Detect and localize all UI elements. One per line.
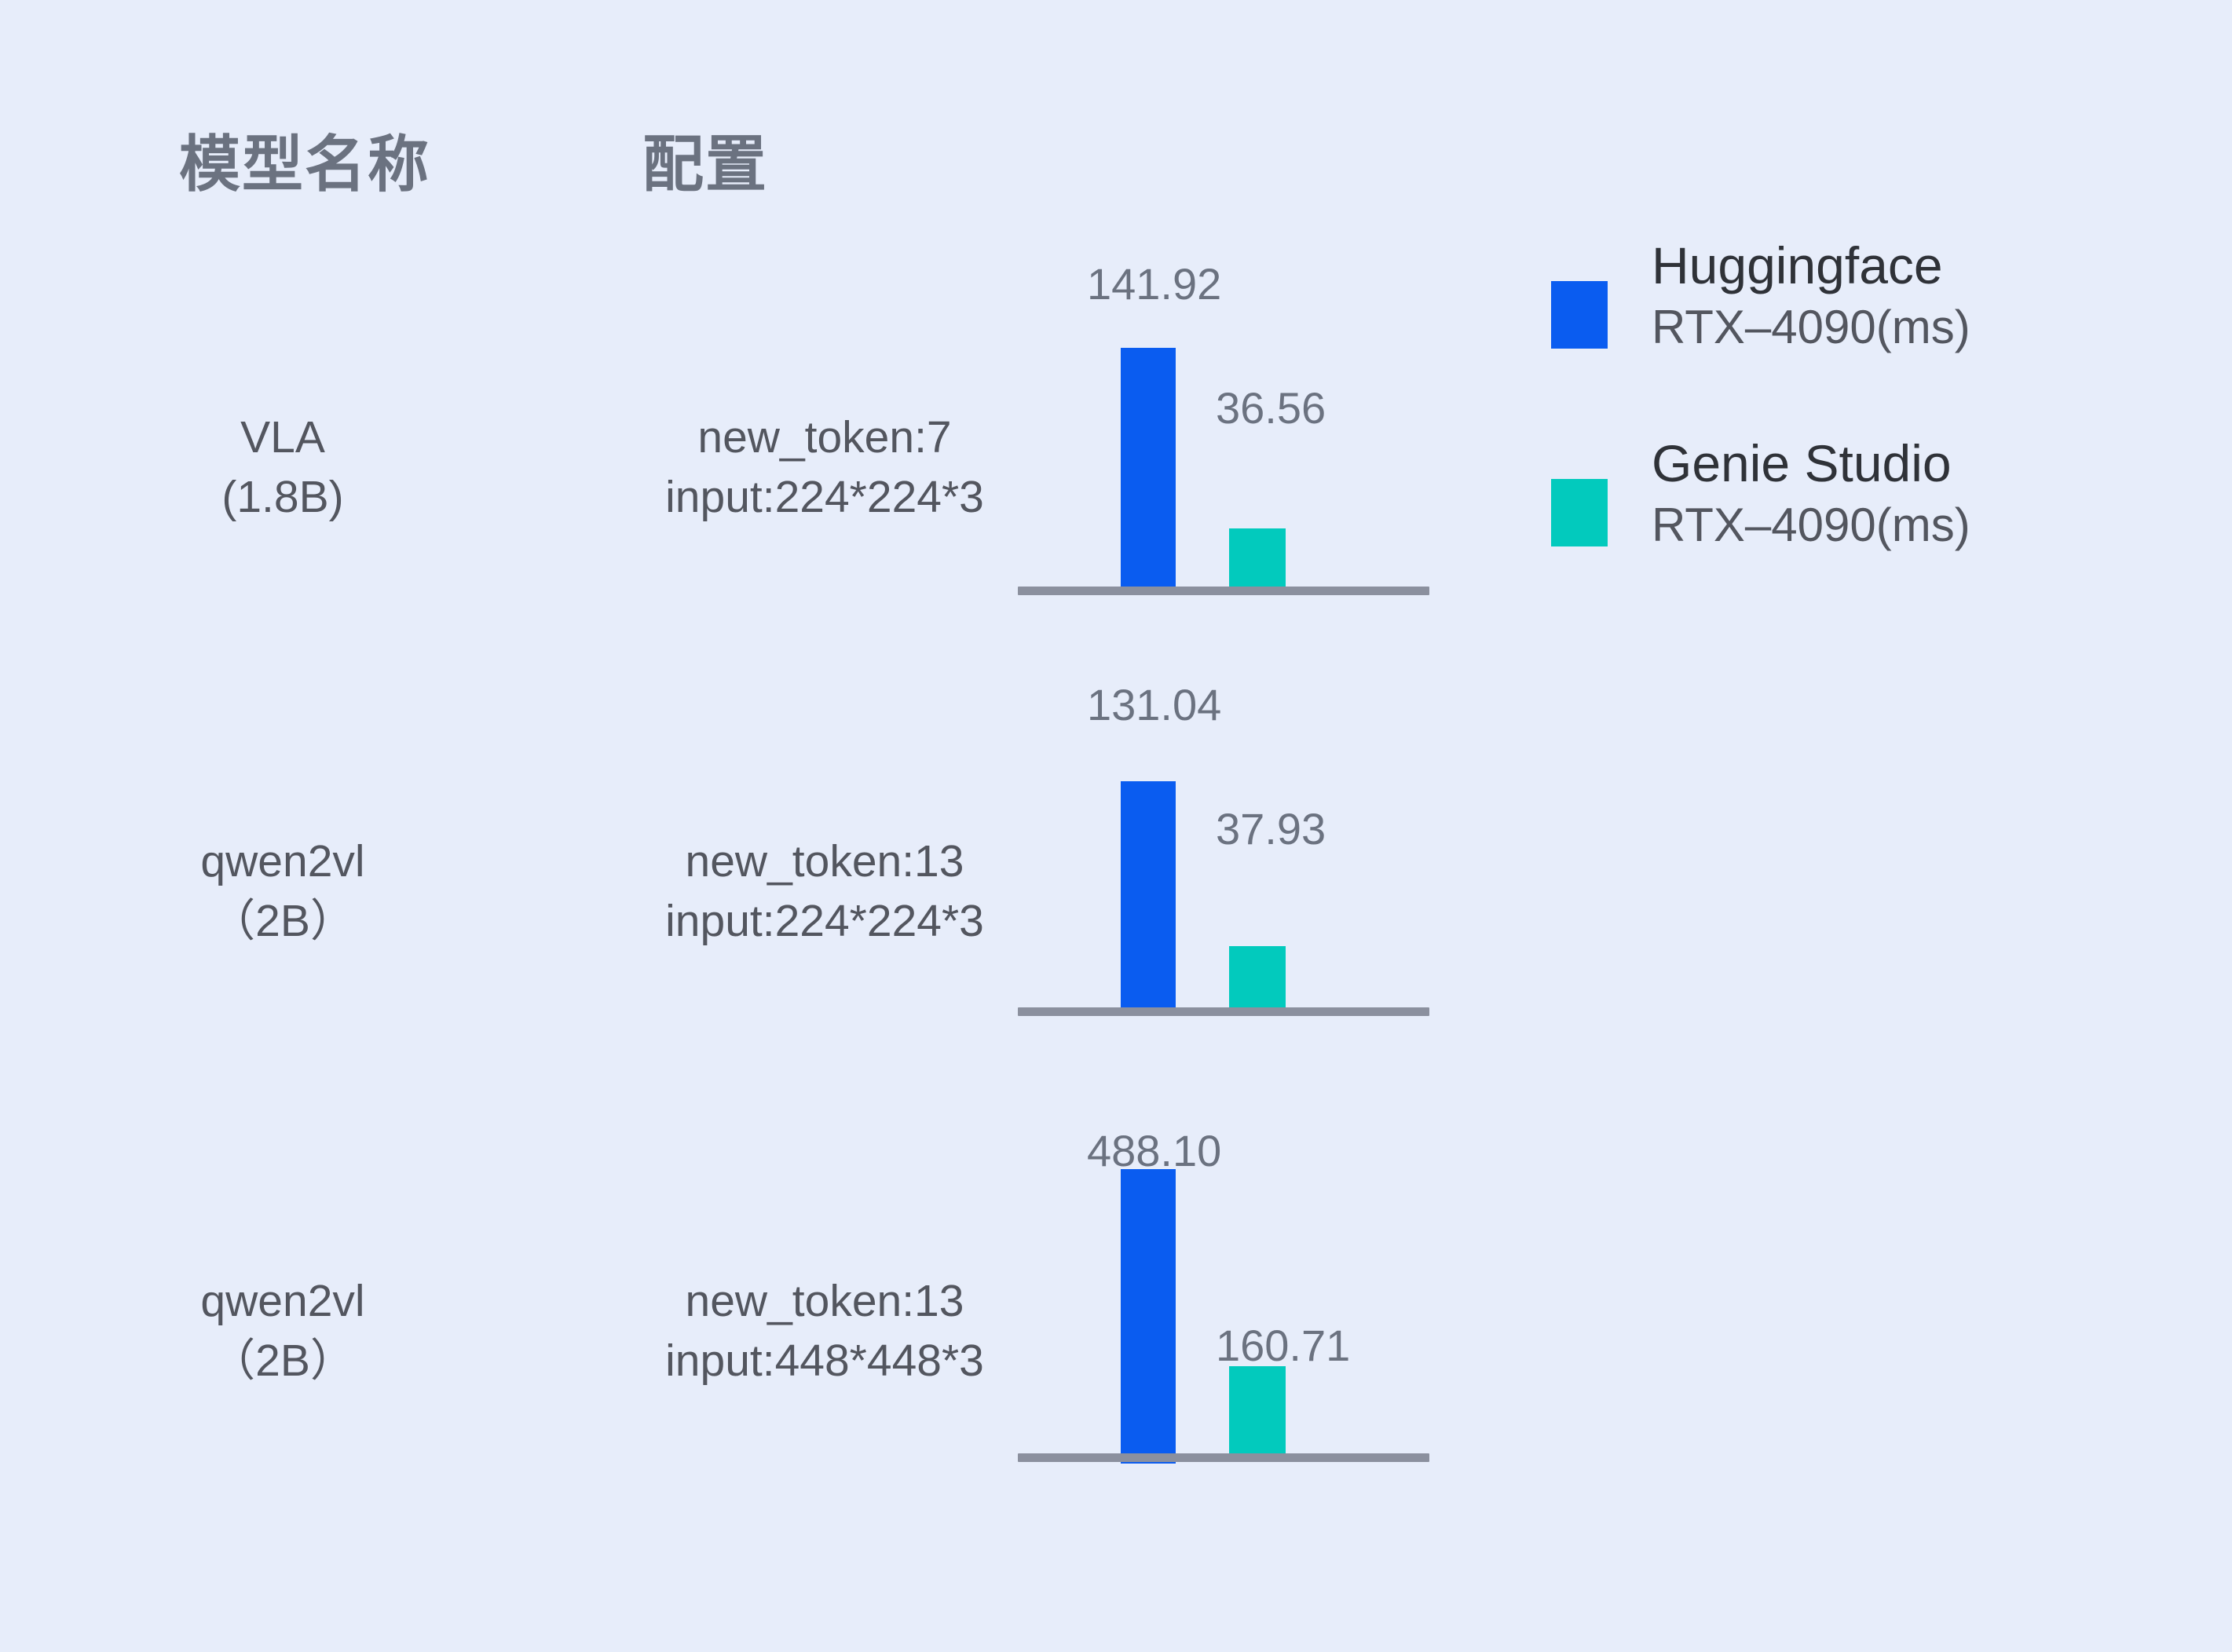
legend-text-huggingface: Huggingface RTX–4090(ms) [1652, 236, 1970, 358]
bar-genie-studio [1229, 946, 1286, 1007]
bar-value-huggingface: 488.10 [1087, 1129, 1221, 1173]
bar-value-huggingface: 131.04 [1087, 683, 1221, 727]
column-header-config: 配置 [642, 133, 768, 195]
bar-genie-studio [1229, 528, 1286, 587]
bar-huggingface [1121, 348, 1176, 587]
bar-chart-row-3: 488.10 160.71 [1018, 1102, 1442, 1573]
legend-sublabel-genie-studio: RTX–4090(ms) [1652, 495, 1970, 556]
legend-swatch-genie-studio-icon [1551, 479, 1608, 546]
bar-value-genie-studio: 37.93 [1216, 807, 1326, 851]
model-size-line-2: （2B） [94, 892, 471, 952]
legend-item-huggingface: Huggingface RTX–4090(ms) [1551, 236, 2164, 358]
bar-chart-row-2: 131.04 37.93 [1018, 656, 1442, 1128]
legend-text-genie-studio: Genie Studio RTX–4090(ms) [1652, 433, 1970, 556]
chart-baseline [1018, 1453, 1429, 1462]
chart-baseline [1018, 587, 1429, 595]
legend-label-genie-studio: Genie Studio [1652, 433, 1970, 495]
bar-huggingface [1121, 781, 1176, 1007]
model-name-line-1: qwen2vl [94, 832, 471, 892]
model-size-line-2: (1.8B) [94, 468, 471, 528]
chart-baseline [1018, 1007, 1429, 1016]
bar-genie-studio [1229, 1366, 1286, 1453]
model-size-line-2: （2B） [94, 1332, 471, 1391]
bar-huggingface [1121, 1169, 1176, 1464]
legend-sublabel-huggingface: RTX–4090(ms) [1652, 297, 1970, 358]
cell-model-name: VLA (1.8B) [94, 408, 471, 528]
legend-label-huggingface: Huggingface [1652, 236, 1970, 297]
bar-value-huggingface: 141.92 [1087, 262, 1221, 306]
slide-canvas: 模型名称 配置 VLA (1.8B) new_token:7 input:224… [0, 0, 2232, 1652]
column-header-model-name: 模型名称 [179, 133, 430, 195]
model-name-line-1: qwen2vl [94, 1272, 471, 1332]
legend-swatch-huggingface-icon [1551, 281, 1608, 349]
legend-item-genie-studio: Genie Studio RTX–4090(ms) [1551, 433, 2164, 556]
model-name-line-1: VLA [94, 408, 471, 468]
chart-legend: Huggingface RTX–4090(ms) Genie Studio RT… [1551, 236, 2164, 631]
cell-model-name: qwen2vl （2B） [94, 832, 471, 952]
bar-value-genie-studio: 160.71 [1216, 1324, 1350, 1368]
bar-value-genie-studio: 36.56 [1216, 386, 1326, 430]
cell-model-name: qwen2vl （2B） [94, 1272, 471, 1391]
bar-chart-row-1: 141.92 36.56 [1018, 236, 1442, 707]
